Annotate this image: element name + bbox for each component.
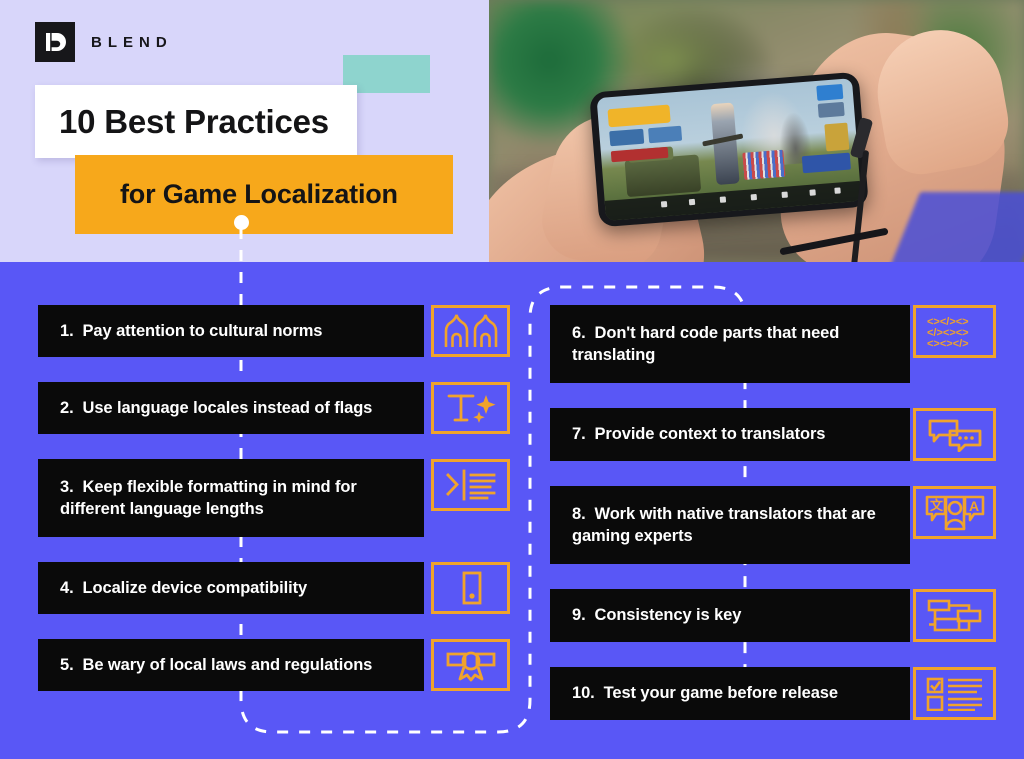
practice-number-8: 8. [572,505,586,523]
practice-card-10: 10. Test your game before release [550,667,910,720]
practice-row-4: 4. Localize device compatibility [38,562,510,614]
practice-text-4: Localize device compatibility [83,579,308,597]
practices-column-left: 1. Pay attention to cultural norms [38,305,510,716]
game-hud-right-1 [816,84,843,101]
practice-number-3: 3. [60,478,74,496]
game-start-button [608,105,671,127]
award-ribbon-icon [431,639,510,691]
smartphone [589,72,869,228]
practice-card-2: 2. Use language locales instead of flags [38,382,424,434]
practice-card-8: 8. Work with native translators that are… [550,486,910,564]
practice-row-8: 8. Work with native translators that are… [550,486,996,564]
practice-text-10: Test your game before release [604,684,838,702]
practice-text-7: Provide context to translators [595,425,826,443]
practice-row-1: 1. Pay attention to cultural norms [38,305,510,357]
game-hud-right-2 [818,102,845,117]
text-indent-icon [431,459,510,511]
game-vehicle [625,154,702,197]
sitemap-icon [913,589,996,642]
practice-number-2: 2. [60,399,74,417]
practice-number-7: 7. [572,425,586,443]
blend-b-logo-icon [35,22,75,62]
practice-text-8: Work with native translators that are ga… [572,505,876,545]
practice-text-5: Be wary of local laws and regulations [83,656,373,674]
practice-text-6: Don't hard code parts that need translat… [572,324,839,364]
page-title-primary-text: 10 Best Practices [35,103,329,141]
practices-column-right: 6. Don't hard code parts that need trans… [550,305,996,745]
practice-number-10: 10. [572,684,595,702]
practice-card-1: 1. Pay attention to cultural norms [38,305,424,357]
practice-card-7: 7. Provide context to translators [550,408,910,461]
svg-text:文: 文 [930,498,944,513]
practice-text-9: Consistency is key [595,606,742,624]
practice-number-6: 6. [572,324,586,342]
svg-text:<><></>: <><></> [927,338,969,350]
practice-card-9: 9. Consistency is key [550,589,910,642]
practice-row-5: 5. Be wary of local laws and regulations [38,639,510,691]
checklist-icon [913,667,996,720]
mosque-arches-icon [431,305,510,357]
text-sparkle-icon [431,382,510,434]
game-hud-right-4 [801,152,851,173]
practice-row-9: 9. Consistency is key [550,589,996,642]
practice-text-2: Use language locales instead of flags [83,399,373,417]
practice-row-3: 3. Keep flexible formatting in mind for … [38,459,510,537]
brand-name: BLEND [91,34,173,51]
page-title-secondary: for Game Localization [75,155,453,234]
game-hud-right-3 [825,123,850,152]
game-crates [742,150,785,180]
practice-card-6: 6. Don't hard code parts that need trans… [550,305,910,383]
practice-row-10: 10. Test your game before release [550,667,996,720]
practice-text-1: Pay attention to cultural norms [83,322,323,340]
translate-icon: 文 A [913,486,996,539]
game-hud-card-1 [609,129,643,146]
page-title-secondary-text: for Game Localization [75,179,398,210]
svg-text:A: A [969,498,979,514]
practice-text-3: Keep flexible formatting in mind for dif… [60,478,357,518]
code-brackets-icon: <></><> </><><> <><></> [913,305,996,358]
practice-row-6: 6. Don't hard code parts that need trans… [550,305,996,383]
game-hud-card-2 [648,126,682,143]
practice-row-7: 7. Provide context to translators [550,408,996,461]
practice-number-9: 9. [572,606,586,624]
practice-card-5: 5. Be wary of local laws and regulations [38,639,424,691]
practice-card-4: 4. Localize device compatibility [38,562,424,614]
infographic-poster: BLEND 10 Best Practices for Game Localiz… [0,0,1024,759]
practice-row-2: 2. Use language locales instead of flags [38,382,510,434]
practice-card-3: 3. Keep flexible formatting in mind for … [38,459,424,537]
chat-bubbles-icon [913,408,996,461]
practice-number-4: 4. [60,579,74,597]
mobile-device-icon [431,562,510,614]
brand-logo: BLEND [35,22,173,62]
practice-number-1: 1. [60,322,74,340]
page-title-primary: 10 Best Practices [35,85,357,158]
mobile-gaming-photo [489,0,1024,262]
game-screen [597,78,862,221]
practice-number-5: 5. [60,656,74,674]
connector-start-dot [234,215,249,230]
